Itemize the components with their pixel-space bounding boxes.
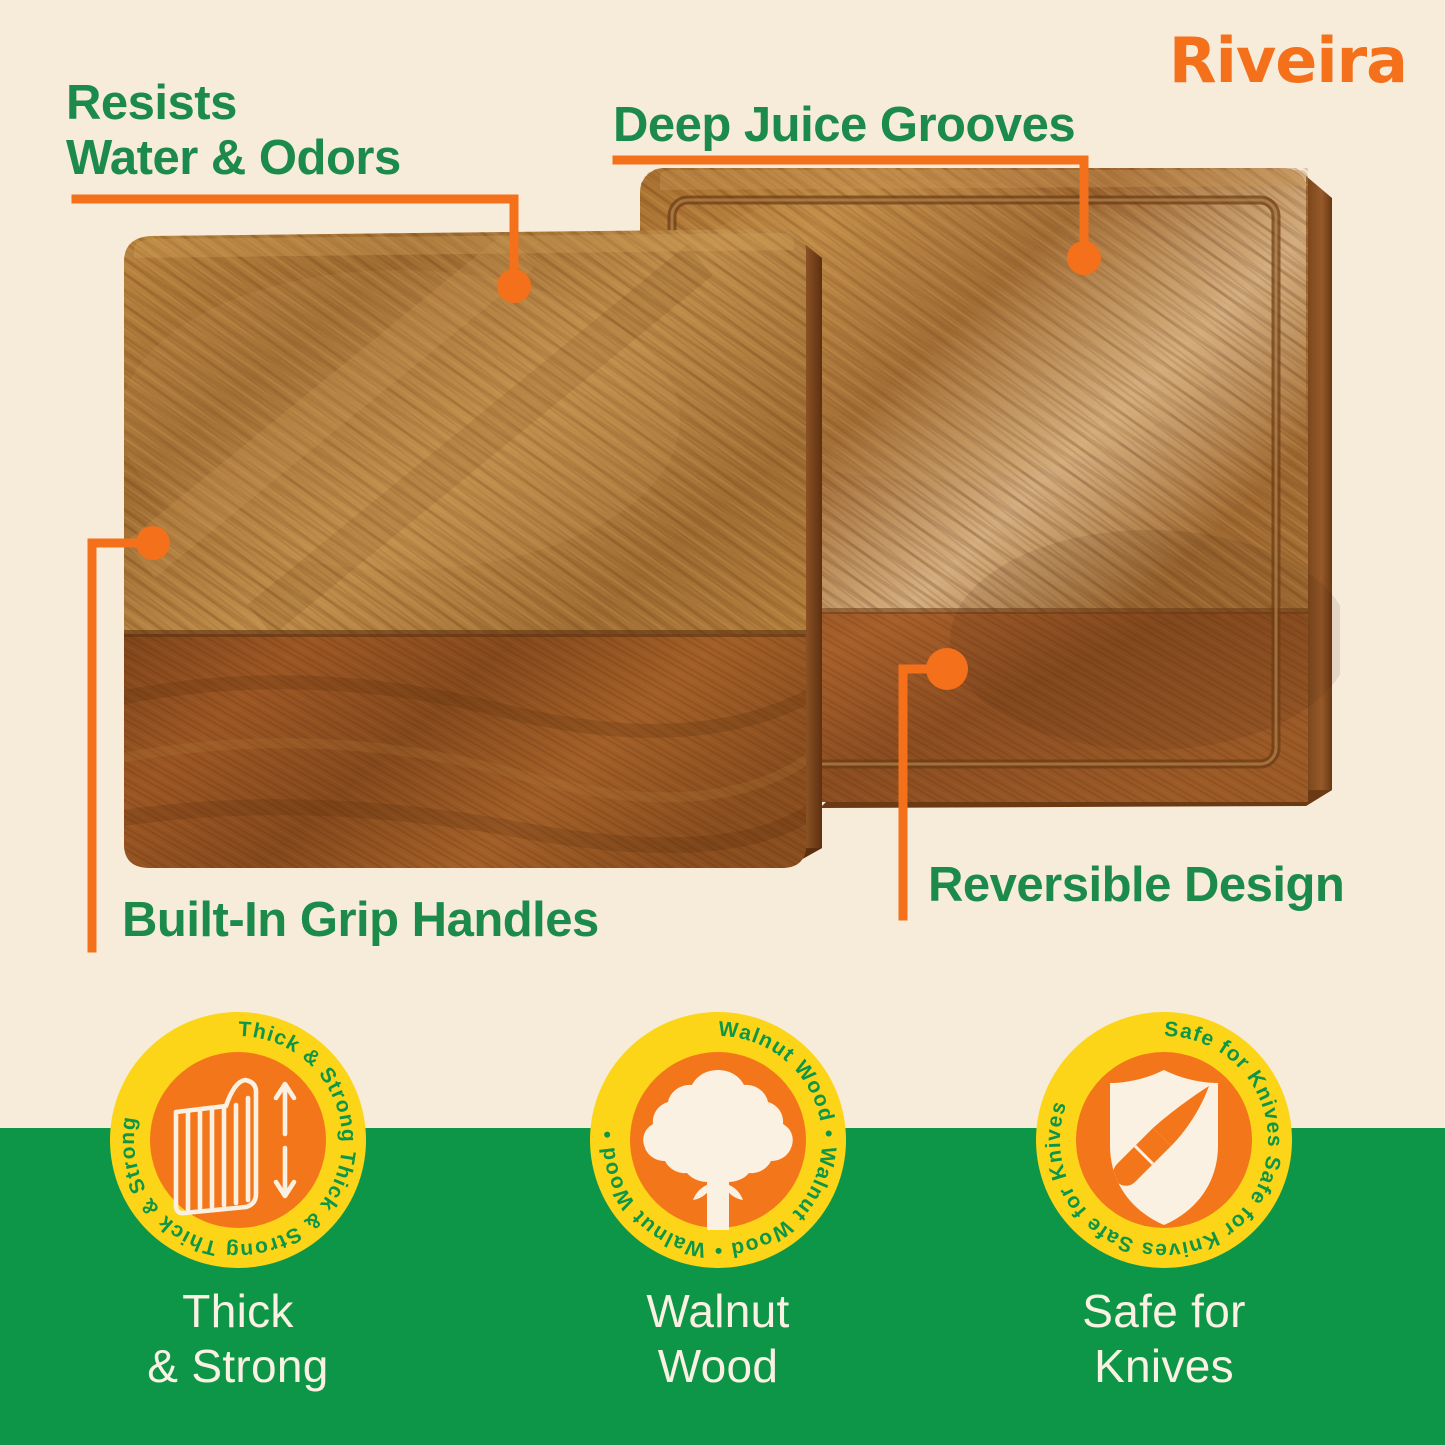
callout-label-resists-water: Resists Water & Odors xyxy=(66,76,401,186)
badge-thick-and-strong: Thick & Strong Thick & Strong Thick & St… xyxy=(106,1008,370,1272)
callout-dot-grip-handles xyxy=(136,526,170,560)
callout-label-reversible-design: Reversible Design xyxy=(928,858,1344,913)
badge-caption-walnut-wood: Walnut Wood xyxy=(558,1284,878,1394)
callout-dot-reversible-design xyxy=(926,648,968,690)
badge-caption-thick-and-strong: Thick & Strong xyxy=(78,1284,398,1394)
callout-label-grip-handles: Built-In Grip Handles xyxy=(122,893,599,948)
badge-walnut-wood: Walnut Wood • Walnut Wood • Walnut Wood … xyxy=(586,1008,850,1272)
callout-dot-resists-water xyxy=(497,269,531,303)
brand-logo: Riveira xyxy=(1169,30,1407,92)
connector-grip-handles xyxy=(92,543,146,948)
callout-label-deep-juice-grooves: Deep Juice Grooves xyxy=(613,98,1075,153)
connector-deep-juice-grooves xyxy=(617,160,1084,244)
badge-caption-safe-for-knives: Safe for Knives xyxy=(1004,1284,1324,1394)
badge-row: Thick & Strong Thick & Strong Thick & St… xyxy=(0,1008,1445,1308)
infographic-canvas: Resists Water & Odors Deep Juice Grooves… xyxy=(0,0,1445,1445)
callout-dot-deep-juice-grooves xyxy=(1067,241,1101,275)
badge-safe-for-knives: Safe for Knives Safe for Knives Safe for… xyxy=(1032,1008,1296,1272)
connector-resists-water xyxy=(76,199,514,272)
